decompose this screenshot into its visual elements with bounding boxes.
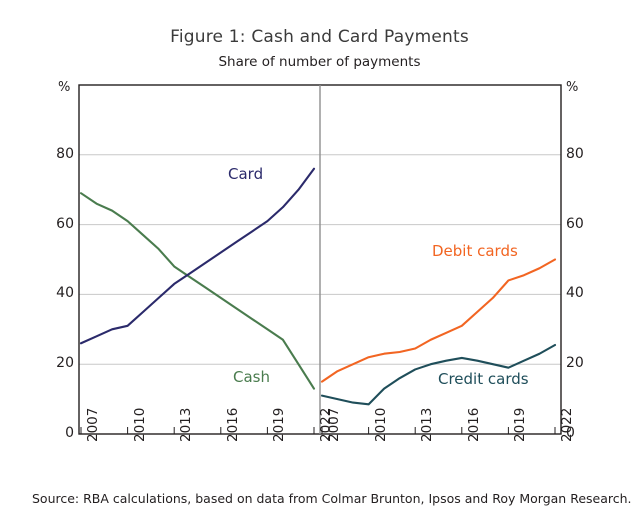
- x-axis-tick-right-panel-2013: 2013: [421, 408, 435, 442]
- x-axis-tick-left-panel-2013: 2013: [180, 408, 194, 442]
- data-series-lines: [81, 169, 555, 405]
- series-label-credit-cards: Credit cards: [438, 372, 529, 387]
- series-line-cash: [81, 193, 314, 388]
- x-axis-tick-right-panel-2019: 2019: [514, 408, 528, 442]
- y-axis-tick-left-40: 40: [44, 286, 74, 300]
- series-label-debit-cards: Debit cards: [432, 244, 518, 259]
- y-axis-tick-right-80: 80: [566, 147, 596, 161]
- x-axis-tick-left-panel-2010: 2010: [134, 408, 148, 442]
- x-axis-tick-left-panel-2007: 2007: [87, 408, 101, 442]
- y-axis-tick-left-80: 80: [44, 147, 74, 161]
- series-label-cash: Cash: [233, 370, 270, 385]
- y-axis-tick-right-20: 20: [566, 356, 596, 370]
- x-axis-tick-right-panel-2007: 2007: [328, 408, 342, 442]
- series-label-card: Card: [228, 167, 263, 182]
- series-line-card: [81, 169, 314, 344]
- figure-container: Figure 1: Cash and Card Payments Share o…: [0, 0, 639, 518]
- y-axis-tick-left-0: 0: [44, 426, 74, 440]
- y-axis-tick-right-40: 40: [566, 286, 596, 300]
- x-axis-tick-left-panel-2016: 2016: [227, 408, 241, 442]
- y-axis-tick-right-60: 60: [566, 217, 596, 231]
- y-axis-tick-left-60: 60: [44, 217, 74, 231]
- source-note: Source: RBA calculations, based on data …: [32, 491, 632, 506]
- x-axis-tick-right-panel-2022: 2022: [561, 408, 575, 442]
- y-axis-tick-left-20: 20: [44, 356, 74, 370]
- x-axis-tick-right-panel-2010: 2010: [375, 408, 389, 442]
- x-axis-tick-left-panel-2019: 2019: [273, 408, 287, 442]
- x-axis-tick-right-panel-2016: 2016: [468, 408, 482, 442]
